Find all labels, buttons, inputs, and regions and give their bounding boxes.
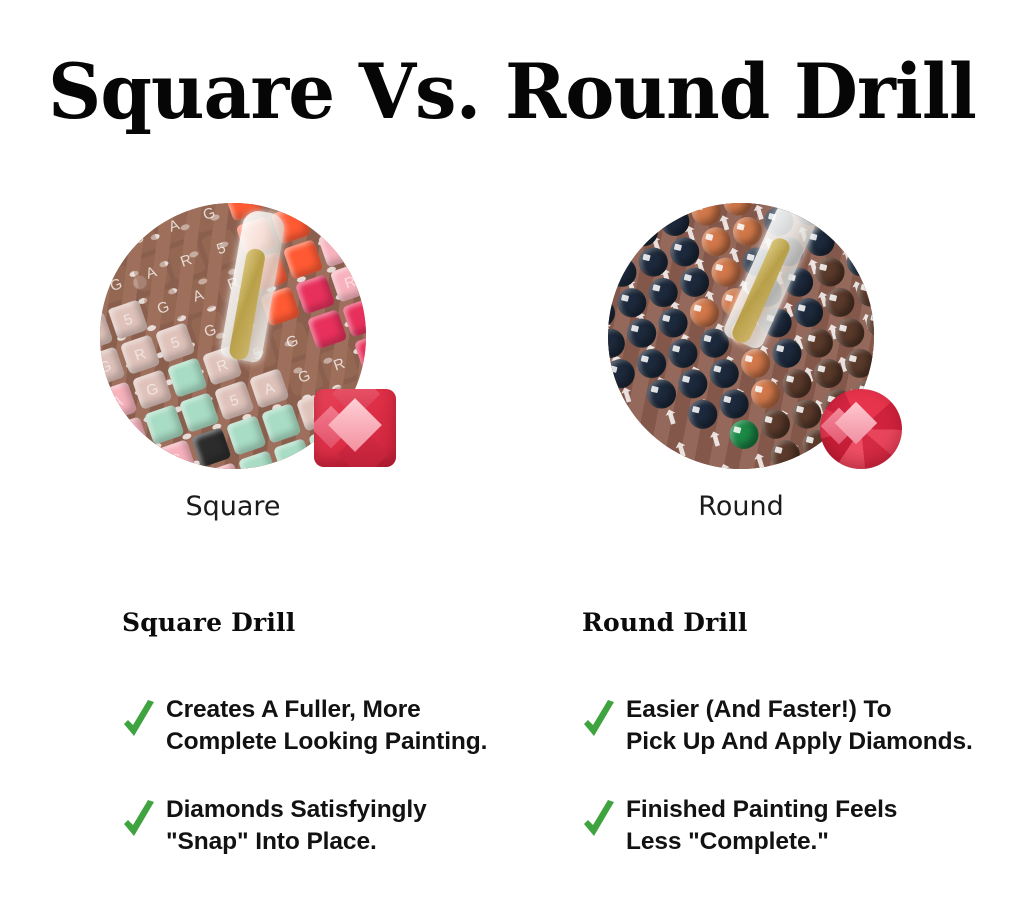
check-icon <box>122 800 156 844</box>
list-item: Diamonds Satisfyingly "Snap" Into Place. <box>122 794 502 858</box>
round-drill-bead <box>623 315 660 352</box>
round-drill-bead <box>608 203 620 230</box>
heading-round-drill: Round Drill <box>582 608 982 638</box>
square-drill-bead <box>342 297 366 338</box>
square-drill-bead: R <box>330 262 366 303</box>
round-drill-bead <box>608 325 629 362</box>
square-drill-bead: G <box>132 369 173 410</box>
square-drill-bead: A <box>100 381 138 422</box>
square-drill-bead <box>295 274 336 315</box>
round-drill-bead <box>822 284 859 321</box>
list-item: Easier (And Faster!) To Pick Up And Appl… <box>582 694 982 758</box>
round-drill-bead <box>855 203 874 209</box>
caption-square: Square <box>100 490 366 524</box>
photo-block-round: ⬆⬆⬆⬆⬆⬆⬆⬆⬆⬆⬆⬆⬆⬆⬆⬆⬆⬆⬆⬆⬆⬆⬆⬆⬆⬆⬆⬆⬆⬆⬆⬆⬆⬆⬆⬆⬆⬆⬆⬆… <box>608 203 874 469</box>
list-item-label: Creates A Fuller, More Complete Looking … <box>166 694 487 758</box>
round-drill-bead <box>632 447 669 469</box>
square-drill-bead: R <box>319 344 360 385</box>
round-drill-bead <box>767 436 804 469</box>
round-drill-bead <box>800 325 837 362</box>
heading-square-drill: Square Drill <box>122 608 502 638</box>
round-drill-bead <box>716 386 753 423</box>
round-drill-bead <box>790 294 827 331</box>
round-drill-bead <box>737 345 774 382</box>
square-drill-bead <box>226 415 267 456</box>
square-drill-bead <box>283 239 324 280</box>
square-drill-bead: G <box>272 321 313 362</box>
check-icon <box>582 700 616 744</box>
square-drill-bead: G <box>100 264 136 305</box>
round-drill-bead <box>688 203 725 230</box>
round-drill-bead <box>625 213 662 250</box>
round-drill-bead <box>853 274 874 311</box>
square-drill-bead: G <box>189 203 230 234</box>
check-icon <box>122 700 156 744</box>
square-drill-bead <box>273 438 314 469</box>
round-drill-bead <box>833 213 870 250</box>
round-drill-bead <box>676 264 713 301</box>
square-drill-bead: A <box>306 203 347 233</box>
square-drill-bead: 5 <box>318 227 359 268</box>
round-drill-bead <box>686 295 723 332</box>
round-drill-bead <box>757 406 794 443</box>
round-drill-bead <box>657 203 694 240</box>
round-drill-bead <box>863 304 874 341</box>
round-drill-bead <box>769 335 806 372</box>
round-drill-bead <box>708 254 745 291</box>
round-drill-bead <box>633 345 670 382</box>
square-drill-bead: G <box>143 287 184 328</box>
check-icon <box>582 800 616 844</box>
square-drill-bead: A <box>154 205 195 246</box>
round-drill-bead <box>706 355 743 392</box>
square-drill-bead: R <box>166 240 207 281</box>
list-item-label: Finished Painting Feels Less "Complete." <box>626 794 897 858</box>
square-drill-bead: A <box>131 252 172 293</box>
square-drill-bead: A <box>178 275 219 316</box>
round-drill-bead <box>665 335 702 372</box>
square-drill-bead: A <box>249 368 290 409</box>
round-drill-bead <box>841 345 874 382</box>
round-drill-bead <box>843 244 874 281</box>
page-title: Square Vs. Round Drill <box>15 44 1008 140</box>
photo-block-square: GAR5AGR5GAR5AGR5GAR5AGR5GAR5AGR5GAR5AGR5… <box>100 203 366 469</box>
round-drill-bead <box>608 254 640 291</box>
round-drill-bead <box>698 223 735 260</box>
square-drill-bead <box>307 309 348 350</box>
square-gem-icon <box>314 389 396 467</box>
square-drill-bead: 5 <box>108 299 149 340</box>
round-drill-bead <box>747 376 784 413</box>
square-drill-bead: R <box>120 334 161 375</box>
square-drill-bead: 5 <box>155 322 196 363</box>
round-drill-bead <box>635 244 672 281</box>
round-drill-bead <box>608 224 630 261</box>
round-drill-bead <box>736 447 773 469</box>
square-drill-bead <box>179 392 220 433</box>
column-round-drill: Round Drill Easier (And Faster!) To Pick… <box>582 608 982 894</box>
round-drill-bead <box>684 396 721 433</box>
list-item-label: Diamonds Satisfyingly "Snap" Into Place. <box>166 794 427 858</box>
square-drill-bead <box>144 404 185 445</box>
round-drill-bead <box>832 315 869 352</box>
caption-round: Round <box>608 490 874 524</box>
round-drill-bead <box>694 426 731 463</box>
list-item: Creates A Fuller, More Complete Looking … <box>122 694 502 758</box>
list-item: Finished Painting Feels Less "Complete." <box>582 794 982 858</box>
round-drill-bead <box>675 366 712 403</box>
round-drill-bead <box>608 356 638 393</box>
column-square-drill: Square Drill Creates A Fuller, More Comp… <box>122 608 502 894</box>
square-drill-bead <box>261 403 302 444</box>
round-drill-bead <box>645 274 682 311</box>
round-gem-icon <box>820 389 902 469</box>
round-drill-bead <box>779 365 816 402</box>
square-drill-bead <box>191 427 232 468</box>
round-drill-bead <box>655 305 692 342</box>
round-drill-bead <box>666 234 703 271</box>
round-drill-bead <box>653 406 690 443</box>
square-drill-bead: 5 <box>214 380 255 421</box>
round-drill-bead <box>726 416 763 453</box>
round-drill-bead <box>643 376 680 413</box>
round-drill-bead <box>810 355 847 392</box>
list-item-label: Easier (And Faster!) To Pick Up And Appl… <box>626 694 973 758</box>
round-drill-bead <box>614 284 651 321</box>
square-drill-bead: 5 <box>119 217 160 258</box>
round-drill-bead <box>663 437 700 469</box>
round-drill-bead <box>812 254 849 291</box>
square-drill-bead: G <box>156 439 197 469</box>
square-drill-bead <box>167 357 208 398</box>
